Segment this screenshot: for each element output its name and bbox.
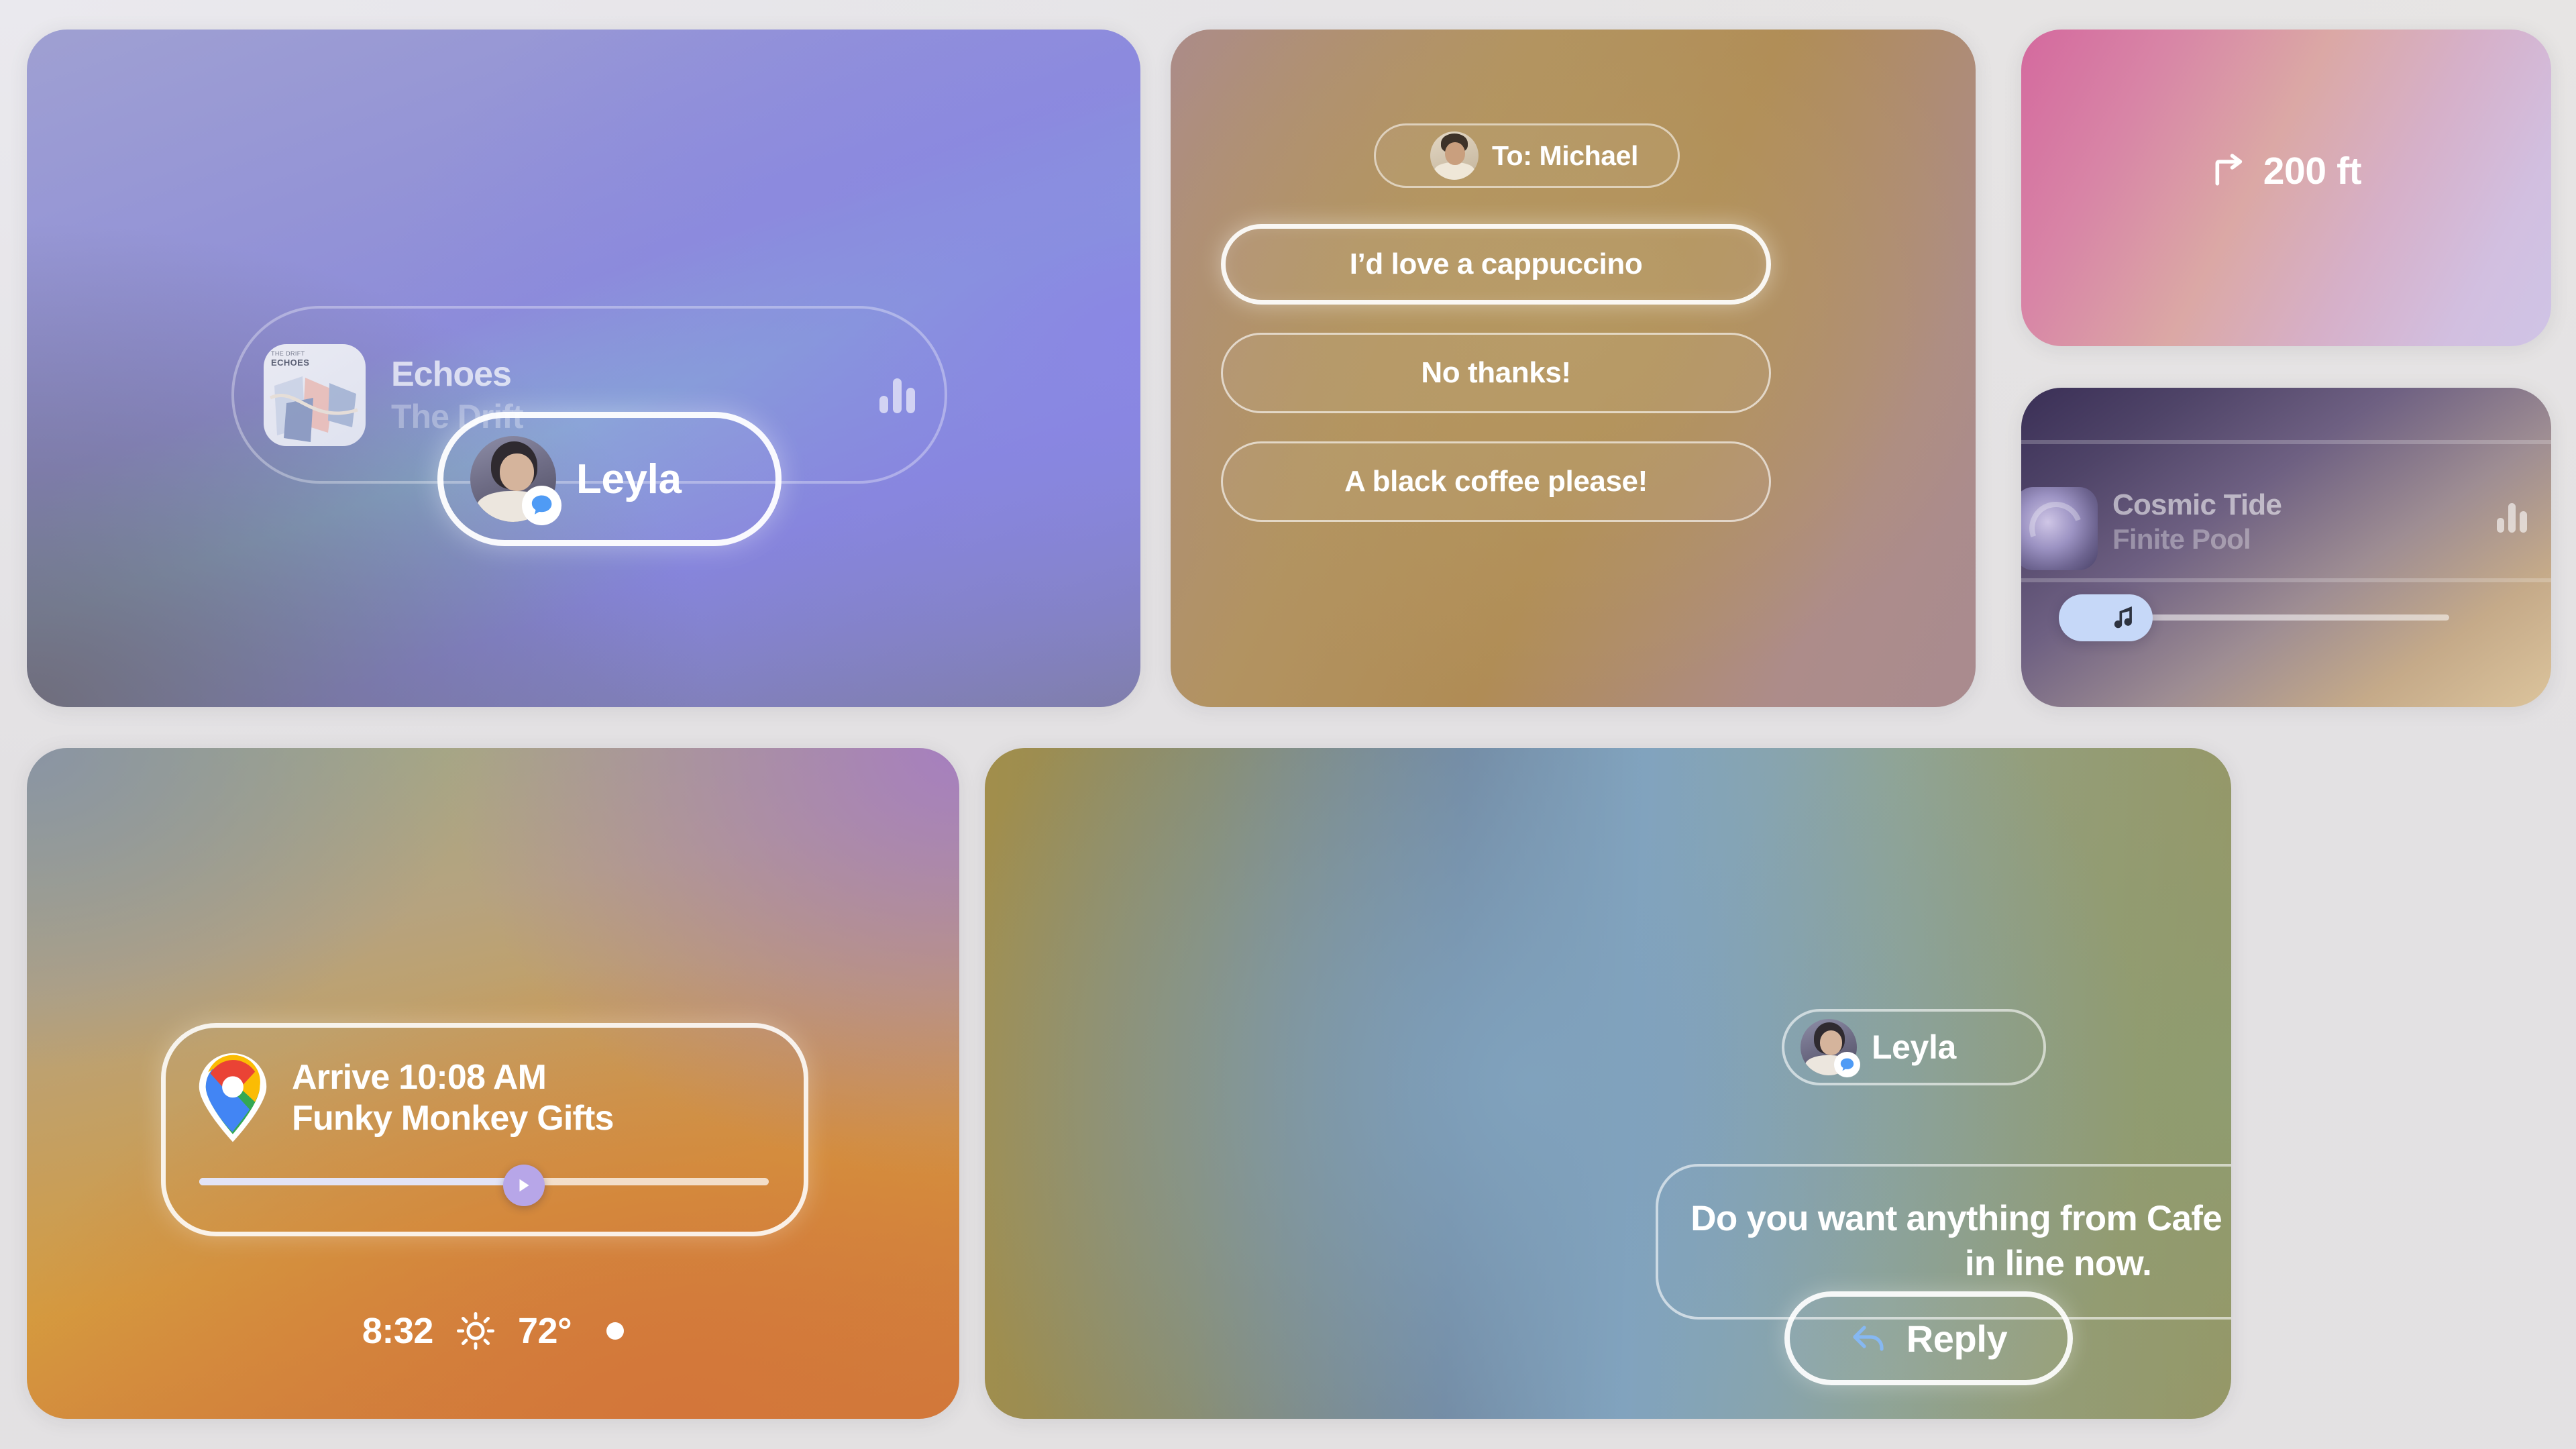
reply-option-black-coffee[interactable]: A black coffee please!: [1221, 441, 1771, 522]
turn-instruction: 200 ft: [2021, 149, 2551, 193]
track-info: Cosmic Tide Finite Pool: [2112, 488, 2282, 555]
dashboard-canvas: THE DRIFT ECHOES Echoes The Drift: [0, 0, 2576, 1449]
equalizer-bars-icon: [2497, 502, 2527, 533]
progress-thumb[interactable]: [503, 1165, 545, 1206]
reply-option-label: No thanks!: [1421, 356, 1570, 390]
maps-pin-icon: [197, 1053, 269, 1143]
track-artist: Finite Pool: [2112, 523, 2282, 555]
reply-option-cappuccino[interactable]: I’d love a cappuccino: [1221, 224, 1771, 305]
equalizer-bars-icon: [879, 377, 915, 413]
sender-chip-leyla[interactable]: Leyla: [1782, 1009, 2046, 1085]
sender-name: Leyla: [1872, 1028, 1956, 1067]
message-text: Do you want anything from Cafe Corner? I…: [1690, 1197, 2231, 1287]
mini-now-playing-panel[interactable]: Cosmic Tide Finite Pool: [2021, 388, 2551, 707]
contact-chip-leyla[interactable]: Leyla: [437, 412, 782, 546]
reply-option-no-thanks[interactable]: No thanks!: [1221, 333, 1771, 413]
clock-time: 8:32: [362, 1310, 433, 1352]
messages-app-icon: [1834, 1052, 1860, 1078]
album-art: THE DRIFT ECHOES: [264, 344, 366, 446]
status-dot-icon: [606, 1322, 624, 1340]
reply-arrow-icon: [1850, 1322, 1889, 1354]
track-title: Echoes: [391, 354, 523, 394]
avatar: [1801, 1019, 1857, 1075]
music-note-icon: [2114, 604, 2137, 631]
navigation-turn-panel[interactable]: 200 ft: [2021, 30, 2551, 346]
album-art: [2021, 487, 2098, 570]
destination-name: Funky Monkey Gifts: [292, 1098, 614, 1139]
arrival-text: Arrive 10:08 AM Funky Monkey Gifts: [292, 1057, 614, 1140]
divider: [2021, 440, 2551, 444]
recipient-label: To: Michael: [1492, 140, 1638, 172]
turn-right-arrow-icon: [2211, 152, 2249, 190]
temperature: 72°: [518, 1310, 572, 1352]
reply-button[interactable]: Reply: [1784, 1291, 2073, 1385]
navigation-arrival-panel[interactable]: Arrive 10:08 AM Funky Monkey Gifts 8:32: [27, 748, 959, 1419]
track-title: Cosmic Tide: [2112, 488, 2282, 522]
incoming-message-panel[interactable]: Leyla Do you want anything from Cafe Cor…: [985, 748, 2231, 1419]
avatar: [470, 436, 556, 522]
turn-distance: 200 ft: [2263, 149, 2362, 193]
messages-app-icon: [522, 486, 561, 525]
progress-fill: [199, 1178, 527, 1185]
reply-button-label: Reply: [1907, 1317, 2008, 1360]
contact-name: Leyla: [576, 455, 682, 503]
now-playing-panel[interactable]: THE DRIFT ECHOES Echoes The Drift: [27, 30, 1140, 707]
arrival-time-line: Arrive 10:08 AM: [292, 1057, 614, 1098]
playback-scrubber-thumb[interactable]: [2059, 594, 2153, 641]
reply-option-label: I’d love a cappuccino: [1350, 248, 1643, 281]
playback-progress-track[interactable]: [2121, 614, 2449, 621]
play-triangle-icon: [515, 1176, 533, 1195]
smart-reply-panel[interactable]: To: Michael I’d love a cappuccino No tha…: [1171, 30, 1976, 707]
reply-option-label: A black coffee please!: [1344, 465, 1648, 498]
arrival-card[interactable]: Arrive 10:08 AM Funky Monkey Gifts: [161, 1023, 808, 1236]
divider: [2021, 578, 2551, 582]
sun-icon: [456, 1311, 495, 1350]
status-bar: 8:32 72°: [27, 1310, 959, 1352]
avatar: [1430, 131, 1479, 180]
route-progress-slider[interactable]: [197, 1167, 771, 1194]
recipient-chip[interactable]: To: Michael: [1374, 123, 1680, 188]
